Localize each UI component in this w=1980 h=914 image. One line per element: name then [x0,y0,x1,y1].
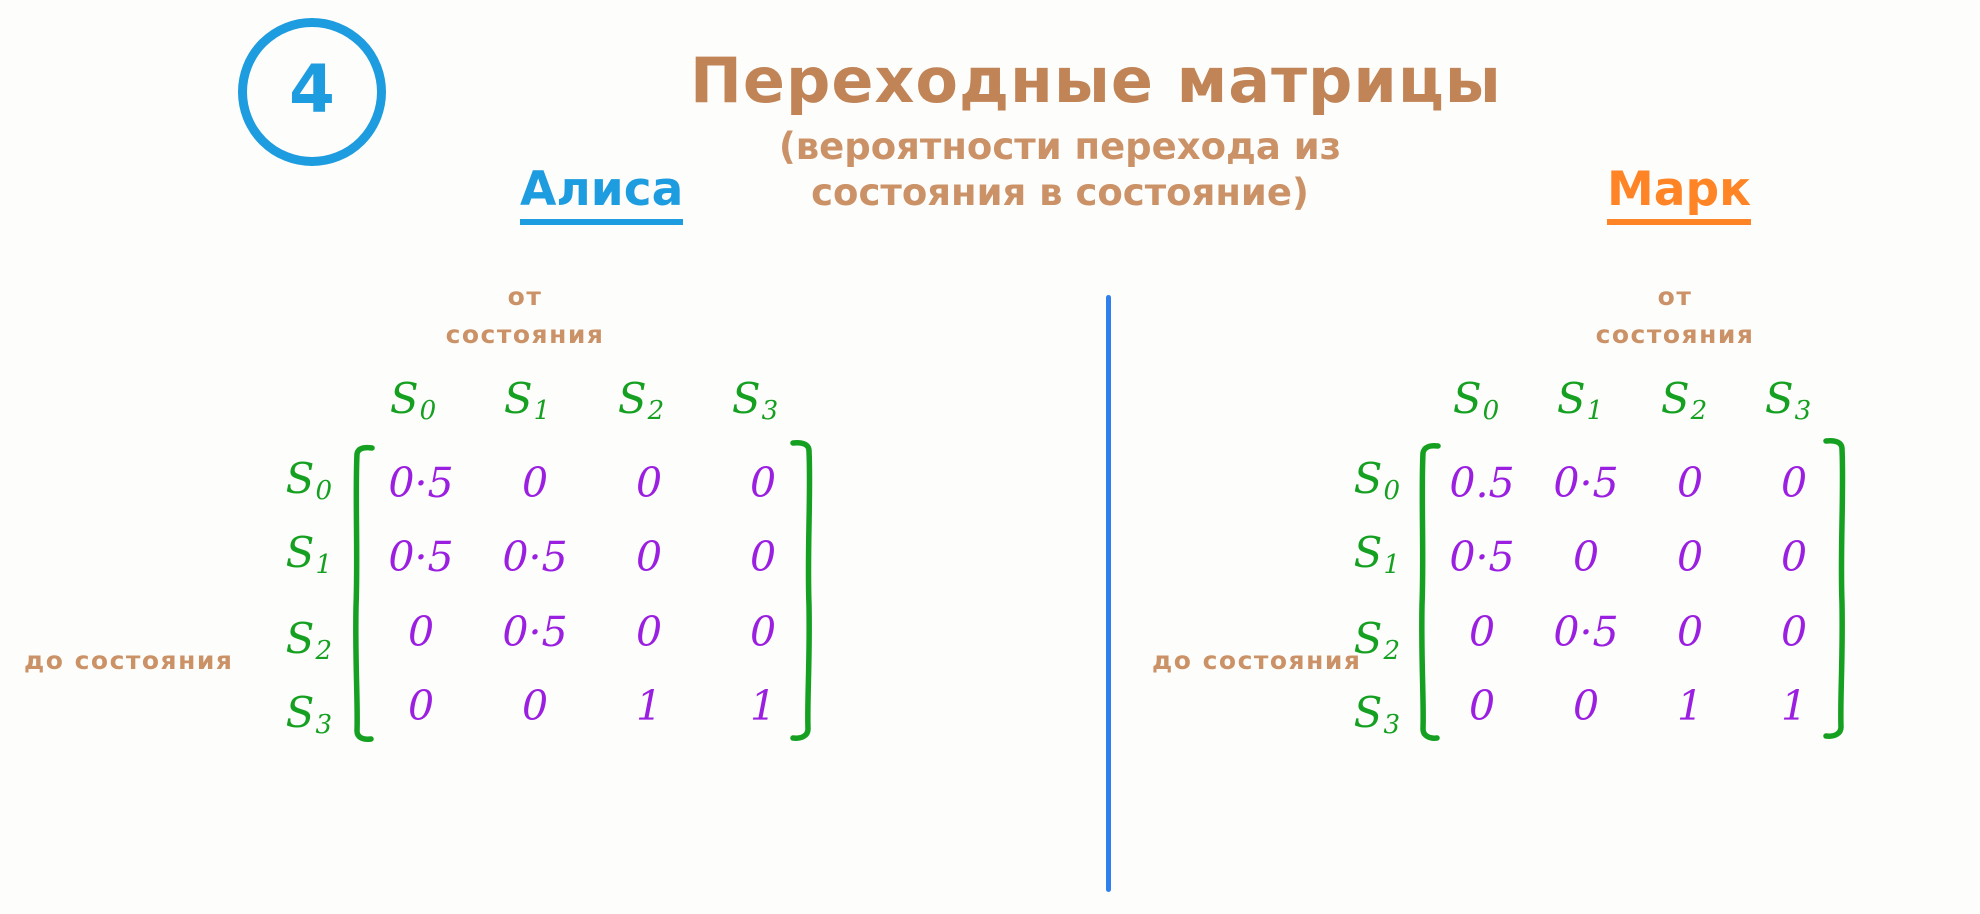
matrix-mark-cell-2-0: 0 [1430,612,1534,653]
matrix-mark-cell-3-3: 1 [1742,686,1846,727]
matrix-mark-row-headers: S0 S1 S2 S3 [1332,430,1406,758]
caption-from-state-alice: от состояния [410,278,640,353]
matrix-mark-cell-2-2: 0 [1638,612,1742,653]
state-label-s1: S1 [504,378,550,424]
matrix-mark-colhead-s3: S3 [1736,378,1840,424]
matrix-alice-colhead-s1: S1 [470,378,584,424]
caption-from-state-alice-line1: от [410,278,640,316]
step-number-badge: 4 [238,18,386,166]
matrix-alice-cell-1-1: 0·5 [478,537,592,578]
slide-canvas: 4 Переходные матрицы (вероятности перехо… [0,0,1980,914]
step-number-label: 4 [289,57,335,123]
matrix-alice-cell-1-0: 0·5 [364,537,478,578]
person-heading-alice: Алиса [520,165,683,225]
matrix-alice-cell-3-0: 0 [364,686,478,727]
state-label-s1: S1 [1557,378,1603,424]
matrix-mark-colhead-s1: S1 [1528,378,1632,424]
state-label-s2: S2 [1354,618,1400,664]
matrix-alice-rowhead-s3: S3 [264,678,338,752]
matrix-alice-row-1: 0·5 0·5 0 0 [364,537,838,578]
matrix-mark-rowhead-s1: S1 [1332,518,1406,592]
matrix-alice-cell-1-3: 0 [706,537,820,578]
matrix-alice-column-headers: S0 S1 S2 S3 [356,378,838,424]
matrix-mark-cell-0-2: 0 [1638,463,1742,504]
state-label-s3: S3 [1354,692,1400,738]
matrix-mark-row-0: 0.5 0·5 0 0 [1430,463,1866,504]
matrix-mark-cell-1-2: 0 [1638,537,1742,578]
caption-from-state-mark-line1: от [1560,278,1790,316]
state-label-s3: S3 [286,692,332,738]
caption-to-state-mark: до состояния [1152,646,1361,675]
matrix-alice-cell-2-2: 0 [592,612,706,653]
page-subtitle-line1: (вероятности перехода из [779,125,1341,168]
matrix-alice-row-2: 0 0·5 0 0 [364,612,838,653]
matrix-alice-bracket-wrap: 0·5 0 0 0 0·5 0·5 0 0 0 0·5 0 [338,430,838,758]
matrix-mark-cells: 0.5 0·5 0 0 0·5 0 0 0 0 0·5 0 [1406,430,1866,758]
matrix-alice-cell-0-0: 0·5 [364,463,478,504]
page-subtitle-line2: состояния в состояние) [690,170,1430,216]
matrix-alice-row-3: 0 0 1 1 [364,686,838,727]
state-label-s2: S2 [618,378,664,424]
state-label-s1: S1 [286,532,332,578]
state-label-s0: S0 [390,378,436,424]
matrix-mark-colhead-s2: S2 [1632,378,1736,424]
matrix-alice-cell-2-0: 0 [364,612,478,653]
transition-matrix-mark: S0 S1 S2 S3 S0 S1 S2 [1332,378,1866,758]
matrix-alice-cell-3-2: 1 [592,686,706,727]
caption-to-state-alice: до состояния [24,646,233,675]
transition-matrix-alice: S0 S1 S2 S3 S0 S1 S2 [264,378,838,758]
matrix-alice-body: S0 S1 S2 S3 0·5 [264,430,838,758]
matrix-mark-cell-1-3: 0 [1742,537,1846,578]
matrix-alice-colhead-s0: S0 [356,378,470,424]
matrix-mark-cell-0-0: 0.5 [1430,463,1534,504]
matrix-mark-cell-3-1: 0 [1534,686,1638,727]
matrix-mark-row-3: 0 0 1 1 [1430,686,1866,727]
matrix-mark-cell-2-1: 0·5 [1534,612,1638,653]
matrix-mark-body: S0 S1 S2 S3 0.5 [1332,430,1866,758]
matrix-mark-bracket-wrap: 0.5 0·5 0 0 0·5 0 0 0 0 0·5 0 [1406,430,1866,758]
vertical-divider [1106,295,1111,892]
matrix-mark-cell-1-1: 0 [1534,537,1638,578]
state-label-s0: S0 [1354,458,1400,504]
matrix-mark-row-1: 0·5 0 0 0 [1430,537,1866,578]
state-label-s0: S0 [1453,378,1499,424]
caption-from-state-mark-line2: состояния [1560,316,1790,354]
state-label-s3: S3 [1765,378,1811,424]
matrix-alice-colhead-s2: S2 [584,378,698,424]
matrix-mark-column-headers: S0 S1 S2 S3 [1424,378,1866,424]
state-label-s3: S3 [732,378,778,424]
matrix-mark-cell-2-3: 0 [1742,612,1846,653]
matrix-alice-cell-0-2: 0 [592,463,706,504]
state-label-s2: S2 [286,618,332,664]
matrix-alice-cell-0-1: 0 [478,463,592,504]
state-label-s0: S0 [286,458,332,504]
page-title: Переходные матрицы [690,48,1430,113]
caption-from-state-mark: от состояния [1560,278,1790,353]
matrix-alice-rowhead-s2: S2 [264,604,338,678]
matrix-mark-cell-3-0: 0 [1430,686,1534,727]
matrix-alice-row-headers: S0 S1 S2 S3 [264,430,338,758]
matrix-mark-rowhead-s2: S2 [1332,604,1406,678]
matrix-mark-cell-0-3: 0 [1742,463,1846,504]
matrix-mark-rowhead-s3: S3 [1332,678,1406,752]
page-subtitle: (вероятности перехода из состояния в сос… [690,124,1430,217]
matrix-alice-cell-0-3: 0 [706,463,820,504]
title-block: Переходные матрицы (вероятности перехода… [690,48,1430,217]
matrix-alice-colhead-s3: S3 [698,378,812,424]
matrix-alice-rowhead-s1: S1 [264,518,338,592]
matrix-alice-row-0: 0·5 0 0 0 [364,463,838,504]
state-label-s1: S1 [1354,532,1400,578]
matrix-alice-cell-1-2: 0 [592,537,706,578]
matrix-alice-rowhead-s0: S0 [264,444,338,518]
matrix-mark-cell-1-0: 0·5 [1430,537,1534,578]
person-heading-mark: Марк [1607,165,1751,225]
matrix-mark-row-2: 0 0·5 0 0 [1430,612,1866,653]
matrix-alice-cell-2-3: 0 [706,612,820,653]
matrix-mark-rowhead-s0: S0 [1332,444,1406,518]
matrix-alice-cell-2-1: 0·5 [478,612,592,653]
matrix-alice-cell-3-1: 0 [478,686,592,727]
state-label-s2: S2 [1661,378,1707,424]
matrix-mark-cell-0-1: 0·5 [1534,463,1638,504]
matrix-alice-cell-3-3: 1 [706,686,820,727]
caption-from-state-alice-line2: состояния [410,316,640,354]
matrix-alice-cells: 0·5 0 0 0 0·5 0·5 0 0 0 0·5 0 [338,430,838,758]
matrix-mark-colhead-s0: S0 [1424,378,1528,424]
matrix-mark-cell-3-2: 1 [1638,686,1742,727]
